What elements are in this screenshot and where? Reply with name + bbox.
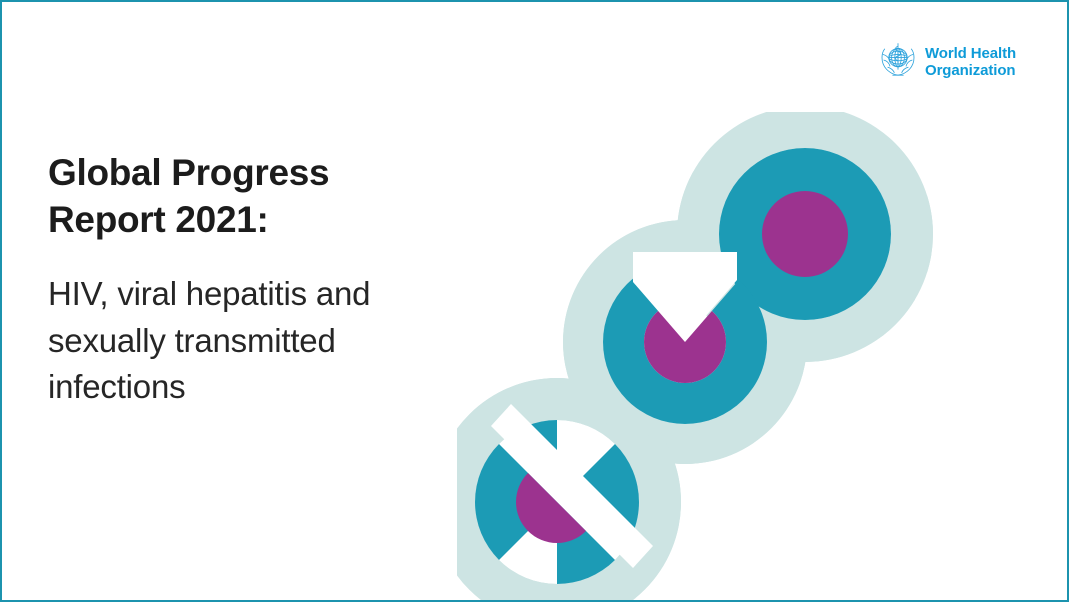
who-emblem-icon (878, 40, 918, 85)
slide-canvas: World Health Organization Global Progres… (0, 0, 1069, 602)
who-wordmark: World Health Organization (925, 46, 1016, 78)
concentric-circles-s-curve-graphic (457, 112, 1069, 602)
page-title: Global Progress Report 2021: (48, 149, 488, 244)
who-logo: World Health Organization (878, 40, 1016, 85)
motif-top-core (762, 191, 848, 277)
who-wordmark-line-1: World Health (925, 46, 1016, 62)
page-subtitle: HIV, viral hepatitis and sexually transm… (48, 271, 488, 412)
cover-text-block: Global Progress Report 2021: HIV, viral … (48, 149, 488, 411)
who-wordmark-line-2: Organization (925, 63, 1016, 79)
